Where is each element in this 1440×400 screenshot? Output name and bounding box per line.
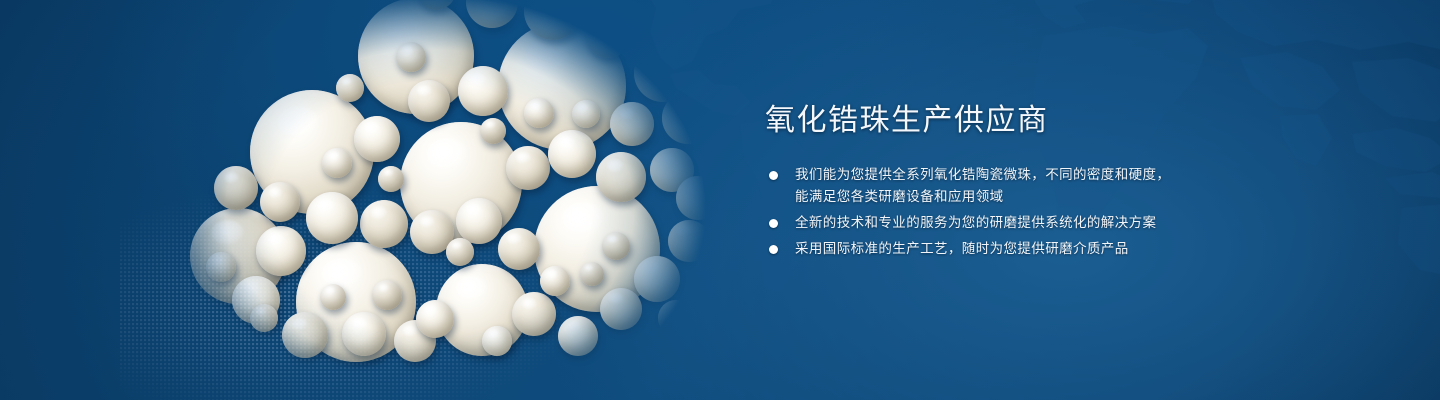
banner-copy: 氧化锆珠生产供应商 我们能为您提供全系列氧化锆陶瓷微珠，不同的密度和硬度， 能满… — [765, 104, 1325, 260]
list-item: 全新的技术和专业的服务为您的研磨提供系统化的解决方案 — [765, 212, 1325, 234]
bullet-dot-icon — [769, 171, 778, 180]
feature-list: 我们能为您提供全系列氧化锆陶瓷微珠，不同的密度和硬度， 能满足您各类研磨设备和应… — [765, 164, 1325, 260]
list-item-line1: 我们能为您提供全系列氧化锆陶瓷微珠，不同的密度和硬度， — [795, 167, 1170, 182]
list-item-line2: 能满足您各类研磨设备和应用领域 — [795, 186, 1325, 208]
list-item-line1: 全新的技术和专业的服务为您的研磨提供系统化的解决方案 — [795, 215, 1156, 230]
bullet-dot-icon — [769, 245, 778, 254]
page-title: 氧化锆珠生产供应商 — [765, 104, 1325, 138]
list-item: 我们能为您提供全系列氧化锆陶瓷微珠，不同的密度和硬度， 能满足您各类研磨设备和应… — [765, 164, 1325, 208]
hero-banner: 氧化锆珠生产供应商 我们能为您提供全系列氧化锆陶瓷微珠，不同的密度和硬度， 能满… — [0, 0, 1440, 400]
list-item: 采用国际标准的生产工艺，随时为您提供研磨介质产品 — [765, 238, 1325, 260]
list-item-line1: 采用国际标准的生产工艺，随时为您提供研磨介质产品 — [795, 241, 1129, 256]
bullet-dot-icon — [769, 219, 778, 228]
